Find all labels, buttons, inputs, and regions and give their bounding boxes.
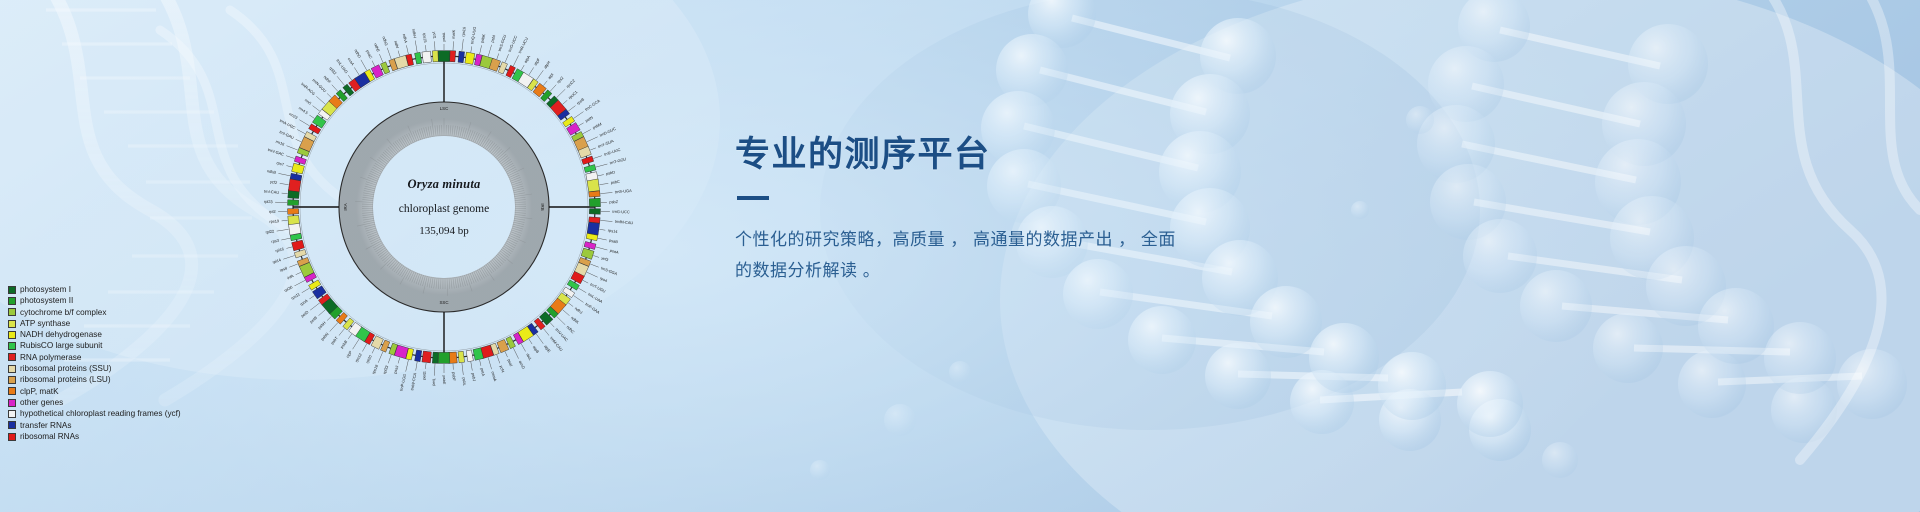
svg-text:atpE: atpE [543,344,552,354]
svg-text:accD: accD [518,360,526,370]
svg-text:rpl2: rpl2 [269,209,276,214]
svg-text:ndhC: ndhC [566,324,576,334]
banner-title: 专业的测序平台 [735,136,1295,175]
legend-item: ribosomal proteins (LSU) [8,374,218,385]
legend-item-label: photosystem II [20,295,73,306]
legend-item: ribosomal proteins (SSU) [8,363,218,374]
legend-color-swatch [8,353,16,361]
svg-text:ndhJ: ndhJ [574,306,584,315]
legend-color-swatch [8,308,16,316]
svg-text:ndhG: ndhG [381,36,389,47]
legend-color-swatch [8,365,16,373]
svg-text:rbcL: rbcL [525,352,533,362]
svg-text:rpl33: rpl33 [382,365,390,375]
svg-text:rrn5: rrn5 [304,98,313,106]
legend-item-label: RNA polymerase [20,352,81,363]
svg-text:psbD: psbD [606,169,616,176]
legend-item: RubisCO large subunit [8,340,218,351]
legend-color-swatch [8,320,16,328]
svg-text:trnS-GCU: trnS-GCU [497,34,508,52]
svg-text:psbF: psbF [451,372,457,382]
svg-text:psbI: psbI [489,35,496,43]
svg-text:psaI: psaI [507,358,514,367]
legend-item-label: ribosomal proteins (LSU) [20,374,111,385]
svg-text:rpl23: rpl23 [264,199,273,204]
svg-text:psbL: psbL [461,377,467,387]
svg-text:atpB: atpB [532,345,541,355]
svg-text:rps2: rps2 [556,75,565,84]
svg-text:psbB: psbB [339,339,348,349]
svg-text:psaA: psaA [609,248,619,255]
legend-item-label: other genes [20,397,63,408]
svg-text:infA: infA [286,273,295,280]
svg-text:ndhA: ndhA [402,33,409,43]
svg-text:ycf3: ycf3 [601,255,609,262]
svg-text:LSC: LSC [440,106,449,111]
svg-text:rps7: rps7 [276,160,285,167]
svg-text:petL: petL [431,377,436,386]
legend-item: clpP, matK [8,386,218,397]
svg-text:IRB: IRB [540,203,545,210]
svg-text:psaJ: psaJ [392,365,399,374]
svg-text:ndhD: ndhD [353,48,362,59]
svg-text:rpl16: rpl16 [275,246,285,253]
banner-subtitle-line-2: 的数据分析解读 。 [735,261,880,280]
svg-text:rps11: rps11 [290,291,301,300]
svg-text:rrn16: rrn16 [275,139,285,147]
legend-color-swatch [8,342,16,350]
legend-item-label: cytochrome b/f complex [20,307,106,318]
svg-text:rps18: rps18 [371,364,379,375]
genome-map-svg: psbAmatKrps16trnQ-UUGpsbKpsbItrnS-GCUtrn… [243,6,645,408]
svg-text:psbK: psbK [479,33,486,43]
svg-text:ycf1: ycf1 [432,32,437,39]
legend-item: cytochrome b/f complex [8,307,218,318]
legend-color-swatch [8,421,16,429]
svg-text:rps19: rps19 [269,218,279,224]
title-underline-rule [737,196,769,200]
hero-banner: psbAmatKrps16trnQ-UUGpsbKpsbItrnS-GCUtrn… [0,0,1920,512]
svg-text:rps4: rps4 [599,275,609,283]
svg-text:ndhB: ndhB [267,168,277,175]
svg-text:trnS-GGA: trnS-GGA [600,265,618,276]
svg-text:trnR-ACG: trnR-ACG [300,81,316,96]
svg-text:trnE-UUC: trnE-UUC [603,147,621,157]
legend-item: hypothetical chloroplast reading frames … [8,408,218,419]
svg-text:ndhI: ndhI [393,40,400,49]
svg-text:SSC: SSC [439,300,448,305]
legend-item: RNA polymerase [8,352,218,363]
svg-text:ycf4: ycf4 [499,365,506,374]
svg-text:rpl22: rpl22 [265,228,274,234]
svg-text:trnS-UGA: trnS-UGA [615,188,633,194]
legend-item: transfer RNAs [8,420,218,431]
banner-subtitle: 个性化的研究策略，高质量 ， 高通量的数据产出 ， 全面 的数据分析解读 。 [735,224,1260,287]
svg-text:psbT: psbT [330,335,340,345]
legend-item-label: hypothetical chloroplast reading frames … [20,408,181,419]
legend-item-label: transfer RNAs [20,420,71,431]
svg-text:psbM: psbM [592,121,603,130]
svg-text:psbN: psbN [320,331,330,341]
svg-text:petA: petA [480,368,487,377]
svg-text:ndhE: ndhE [373,42,381,53]
legend-color-swatch [8,410,16,418]
svg-text:trnY-GUA: trnY-GUA [597,138,615,149]
svg-text:matK: matK [451,29,457,39]
banner-subtitle-line-1: 个性化的研究策略，高质量 ， 高通量的数据产出 ， 全面 [735,230,1176,249]
legend-item: ATP synthase [8,318,218,329]
svg-text:trnI-GAU: trnI-GAU [279,129,295,140]
svg-text:trnV-GAC: trnV-GAC [267,147,285,157]
legend-item-label: clpP, matK [20,386,59,397]
svg-text:trnR-UCU: trnR-UCU [517,36,529,54]
legend-item: ribosomal RNAs [8,431,218,442]
svg-text:rps15: rps15 [422,33,428,43]
svg-text:rpl20: rpl20 [365,353,374,364]
svg-text:trnG-UCC: trnG-UCC [612,209,630,214]
svg-text:atpH: atpH [542,60,551,70]
banner-copy: 专业的测序平台 个性化的研究策略，高质量 ， 高通量的数据产出 ， 全面 的数据… [735,136,1295,286]
svg-text:rps3: rps3 [271,238,279,244]
svg-text:ycf2: ycf2 [270,179,278,185]
svg-text:ccsA: ccsA [347,56,356,66]
svg-text:rps12: rps12 [354,352,363,363]
svg-text:IRA: IRA [343,203,348,210]
svg-text:rpoC2: rpoC2 [565,78,576,89]
legend-item: NADH dehydrogenase [8,329,218,340]
svg-text:atpI: atpI [547,72,555,80]
legend-item-label: RubisCO large subunit [20,340,102,351]
svg-text:psaB: psaB [609,238,619,245]
svg-text:trnC-GCA: trnC-GCA [584,98,601,112]
svg-text:atpA: atpA [523,54,531,64]
svg-text:rps16: rps16 [461,27,467,37]
svg-text:trnQ-UUG: trnQ-UUG [469,26,477,44]
svg-text:ndhF: ndhF [323,74,333,84]
svg-text:trnP-UGG: trnP-UGG [398,373,407,391]
svg-text:rpl32: rpl32 [328,66,337,76]
svg-text:trnfM-CAU: trnfM-CAU [615,219,634,226]
legend-color-swatch [8,399,16,407]
legend-color-swatch [8,376,16,384]
svg-text:psbJ: psbJ [471,372,477,381]
svg-text:clpP: clpP [345,349,354,358]
legend-item-label: NADH dehydrogenase [20,329,102,340]
svg-text:psbE: psbE [442,376,447,385]
svg-text:trnF-GAA: trnF-GAA [584,301,601,315]
svg-text:trnI-CAU: trnI-CAU [264,189,280,195]
svg-text:petG: petG [421,371,427,380]
svg-text:rrn23: rrn23 [288,111,298,120]
svg-text:trnW-CCA: trnW-CCA [409,372,417,391]
svg-text:psbC: psbC [610,179,620,185]
genome-legend: photosystem Iphotosystem IIcytochrome b/… [8,284,218,442]
svg-text:trnG-UCC: trnG-UCC [507,35,518,53]
legend-item: other genes [8,397,218,408]
svg-text:trnT-GGU: trnT-GGU [609,156,627,165]
legend-color-swatch [8,331,16,339]
svg-text:psbH: psbH [317,320,327,330]
legend-item-label: photosystem I [20,284,71,295]
svg-text:cemA: cemA [490,371,498,382]
svg-text:rpl36: rpl36 [283,284,293,292]
svg-text:petN: petN [584,115,594,124]
svg-text:psbA: psbA [441,32,446,41]
svg-text:petB: petB [309,315,319,324]
legend-item: photosystem II [8,295,218,306]
legend-color-swatch [8,387,16,395]
svg-text:ndhK: ndhK [570,315,580,325]
svg-text:ndhH: ndhH [411,28,418,38]
svg-text:rrn4.5: rrn4.5 [298,105,309,115]
svg-text:rpoB: rpoB [576,96,586,105]
svg-text:rpoC1: rpoC1 [567,89,578,100]
legend-color-swatch [8,286,16,294]
svg-text:psaC: psaC [365,49,374,60]
svg-text:rps14: rps14 [608,228,619,234]
legend-item-label: ribosomal RNAs [20,431,79,442]
legend-color-swatch [8,297,16,305]
svg-text:atpF: atpF [533,57,542,67]
legend-color-swatch [8,433,16,441]
svg-text:petD: petD [300,309,310,318]
svg-text:rps8: rps8 [279,265,288,272]
legend-item-label: ATP synthase [20,318,70,329]
svg-text:rpoA: rpoA [299,298,309,307]
legend-item-label: ribosomal proteins (SSU) [20,363,111,374]
svg-text:psbZ: psbZ [609,199,618,204]
legend-item: photosystem I [8,284,218,295]
svg-text:trnD-GUC: trnD-GUC [599,126,617,138]
chloroplast-genome-map: psbAmatKrps16trnQ-UUGpsbKpsbItrnS-GCUtrn… [243,6,645,408]
svg-text:rpl14: rpl14 [272,257,283,265]
